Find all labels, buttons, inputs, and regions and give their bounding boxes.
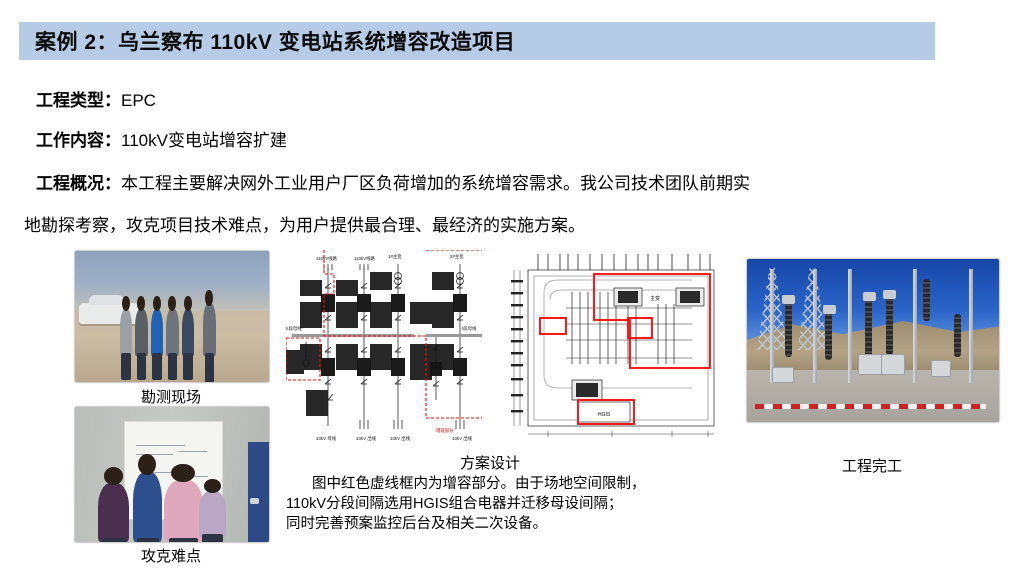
person-figure	[166, 309, 179, 356]
problem-solving-photo-art	[75, 407, 269, 542]
field-overview-line1: 工程概况：本工程主要解决网外工业用户厂区负荷增加的系统增容需求。我公司技术团队前…	[36, 169, 750, 194]
insulator-cap	[782, 295, 795, 304]
svg-text:I段母线: I段母线	[462, 325, 477, 332]
field-project-type-value: EPC	[121, 91, 156, 110]
slide-root: 案例 2：乌兰察布 110kV 变电站系统增容改造项目 工程类型：EPC 工作内…	[0, 0, 1020, 572]
scheme-note-line-2: 110kV分段间隔选用HGIS组合电器并迁移母设间隔；	[286, 496, 623, 512]
post-insulator	[886, 296, 893, 355]
svg-text:增容部分: 增容部分	[436, 427, 454, 434]
problem-solving-photo	[74, 406, 270, 543]
circuit-breaker	[881, 354, 906, 376]
field-overview-text-1: 本工程主要解决网外工业用户厂区负荷增加的系统增容需求。我公司技术团队前期实	[121, 174, 750, 193]
survey-site-caption: 勘测现场	[74, 386, 268, 407]
completed-project-photo	[746, 258, 1000, 423]
person-figure	[164, 480, 203, 542]
svg-text:II段母线: II段母线	[286, 325, 302, 332]
door	[248, 442, 269, 542]
person-figure	[120, 309, 133, 356]
person-figure	[135, 309, 148, 356]
gantry-column	[770, 269, 774, 383]
person-figure	[98, 483, 129, 542]
survey-site-photo-art	[75, 251, 269, 382]
gantry-column	[848, 269, 852, 383]
page-title: 案例 2：乌兰察布 110kV 变电站系统增容改造项目	[19, 26, 515, 56]
person-figure	[182, 309, 195, 356]
field-overview-label: 工程概况：	[36, 174, 121, 193]
field-work-content-value: 110kV变电站增容扩建	[121, 131, 287, 150]
svg-text:主变: 主变	[650, 295, 660, 302]
annotation-blocks	[286, 272, 454, 416]
equipment-cabinet	[772, 367, 794, 384]
insulator-cap	[883, 290, 896, 299]
bus-segment-right	[426, 334, 482, 337]
scheme-design-note: 图中红色虚线框内为增容部分。由于场地空间限制， 110kV分段间隔选用HGIS组…	[286, 474, 706, 534]
problem-solving-caption: 攻克难点	[74, 545, 268, 566]
scheme-design-caption: 方案设计	[360, 452, 620, 473]
svg-text:10kV 出线: 10kV 出线	[452, 435, 473, 442]
insulator-cap	[863, 292, 876, 301]
post-insulator	[954, 314, 961, 356]
person-figure	[199, 491, 226, 537]
field-work-content-label: 工作内容：	[36, 131, 121, 150]
svg-text:HGIS: HGIS	[598, 412, 611, 418]
svg-text:10kV 母线: 10kV 母线	[316, 435, 337, 442]
svg-text:2#主变: 2#主变	[450, 253, 464, 260]
svg-text:10kV 出线: 10kV 出线	[390, 435, 411, 442]
gantry-column	[913, 269, 917, 383]
gantry-column	[813, 269, 817, 383]
field-project-type: 工程类型：EPC	[36, 86, 156, 111]
completed-project-caption: 工程完工	[746, 455, 998, 476]
completed-project-photo-art	[747, 259, 999, 422]
field-overview-text-2: 地勘探考察，攻克项目技术难点，为用户提供最合理、最经济的实施方案。	[24, 216, 585, 235]
equipment-cabinet	[931, 360, 951, 377]
single-line-diagram: II段母线 I段母线 110kV线路 110kV线路 1#主变 2#主变 10k…	[286, 250, 486, 448]
vehicle	[79, 303, 143, 324]
svg-text:110kV线路: 110kV线路	[316, 255, 338, 262]
scheme-note-line-1: 图中红色虚线框内为增容部分。由于场地空间限制，	[286, 474, 706, 494]
field-project-type-label: 工程类型：	[36, 91, 121, 110]
post-insulator	[785, 301, 792, 356]
person-figure	[203, 303, 216, 355]
svg-text:1#主变: 1#主变	[388, 253, 402, 260]
plan-layout-diagram: HGIS 主变	[502, 252, 724, 448]
person-figure	[151, 309, 164, 356]
survey-site-photo	[74, 250, 270, 383]
svg-text:10kV 出线: 10kV 出线	[356, 435, 377, 442]
circuit-breaker	[858, 354, 883, 376]
post-insulator	[865, 298, 872, 357]
gantry-column	[969, 269, 973, 383]
single-line-diagram-svg: II段母线 I段母线 110kV线路 110kV线路 1#主变 2#主变 10k…	[286, 250, 486, 448]
svg-text:110kV线路: 110kV线路	[354, 255, 376, 262]
scheme-note-line-3: 同时完善预案监控后台及相关二次设备。	[286, 516, 547, 532]
insulator-cap	[823, 305, 836, 314]
field-overview-line2: 地勘探考察，攻克项目技术难点，为用户提供最合理、最经济的实施方案。	[24, 211, 585, 236]
plan-layout-diagram-svg: HGIS 主变	[502, 252, 724, 448]
safety-fence	[755, 404, 987, 409]
post-insulator	[923, 279, 930, 321]
slide-title-bar: 案例 2：乌兰察布 110kV 变电站系统增容改造项目	[19, 22, 935, 60]
field-work-content: 工作内容：110kV变电站增容扩建	[36, 126, 287, 151]
post-insulator	[825, 311, 832, 360]
person-figure	[133, 472, 162, 542]
